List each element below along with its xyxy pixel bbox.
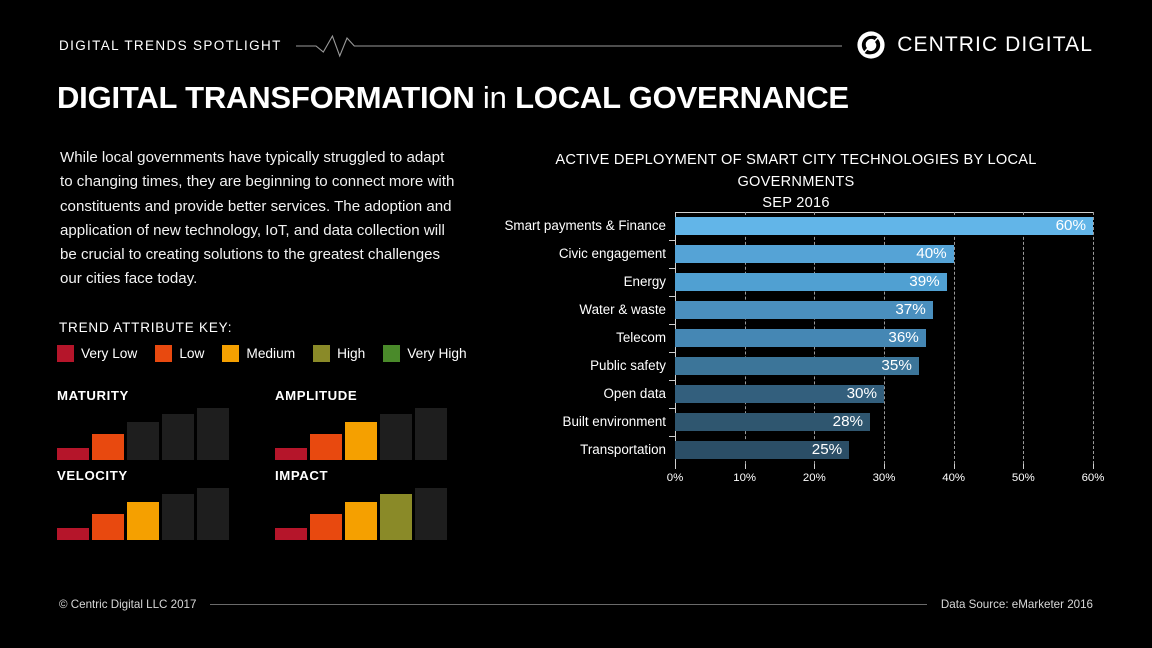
chart-bar: 36% — [675, 329, 926, 347]
chart-bar: 35% — [675, 357, 919, 375]
chart-bar-value: 35% — [881, 357, 918, 374]
chart-bar-row: Telecom36% — [675, 329, 1093, 347]
chart-bar-value: 25% — [812, 441, 849, 458]
chart-bar-row: Open data30% — [675, 385, 1093, 403]
chart-x-tick-mark — [884, 464, 885, 469]
trend-key-label: Very High — [407, 346, 466, 361]
trend-key-label: Medium — [246, 346, 295, 361]
chart-category-tick — [669, 380, 675, 381]
attribute-meter-bar — [197, 408, 229, 460]
attribute-meter-bar — [380, 494, 412, 540]
chart-bar: 40% — [675, 245, 954, 263]
chart-x-tick-mark — [1093, 464, 1094, 469]
attribute-meter-bars — [57, 408, 229, 460]
trend-key-item: High — [313, 345, 365, 362]
chart-bar-row: Energy39% — [675, 273, 1093, 291]
attribute-meter-bar — [162, 414, 194, 460]
attribute-meter-bars — [275, 488, 447, 540]
chart-x-tick-mark — [745, 464, 746, 469]
chart-bar: 28% — [675, 413, 870, 431]
chart-x-tick-label: 10% — [733, 472, 756, 484]
attribute-meter-label: IMPACT — [275, 468, 328, 483]
chart-title: ACTIVE DEPLOYMENT OF SMART CITY TECHNOLO… — [500, 150, 1092, 215]
trend-key-item: Very High — [383, 345, 466, 362]
chart-category-tick — [669, 408, 675, 409]
chart-bar: 37% — [675, 301, 933, 319]
chart-x-tick-label: 50% — [1012, 472, 1035, 484]
data-source-text: Data Source: eMarketer 2016 — [941, 598, 1093, 611]
trend-key-title: TREND ATTRIBUTE KEY: — [59, 320, 232, 335]
chart-bar-value: 60% — [1056, 217, 1093, 234]
brand-name: CENTRIC DIGITAL — [897, 33, 1093, 57]
attribute-meter: VELOCITY — [57, 468, 225, 540]
chart-bar-value: 28% — [833, 413, 870, 430]
chart-category-tick — [669, 436, 675, 437]
trend-key-swatch — [57, 345, 74, 362]
chart-category-label: Telecom — [616, 329, 666, 347]
attribute-meter-bar — [92, 514, 124, 540]
chart-category-tick — [669, 352, 675, 353]
attribute-meter-bar — [275, 528, 307, 540]
page-footer: © Centric Digital LLC 2017 Data Source: … — [59, 598, 1093, 611]
brand-lockup: CENTRIC DIGITAL — [856, 30, 1093, 60]
spotlight-kicker: DIGITAL TRENDS SPOTLIGHT — [59, 38, 282, 53]
attribute-meter-bars — [57, 488, 229, 540]
pulse-line-svg — [296, 32, 843, 58]
attribute-meter-bar — [127, 502, 159, 540]
page-header: DIGITAL TRENDS SPOTLIGHT CENTRIC DIGITAL — [59, 28, 1093, 62]
chart-bar-value: 30% — [847, 385, 884, 402]
trend-key-swatch — [155, 345, 172, 362]
attribute-meter-bar — [415, 408, 447, 460]
chart-plot-area: Smart payments & Finance60%Civic engagem… — [675, 212, 1093, 464]
chart-category-tick — [669, 324, 675, 325]
attribute-meter-bar — [127, 422, 159, 460]
trend-key-swatch — [383, 345, 400, 362]
page-title: DIGITAL TRANSFORMATION in LOCAL GOVERNAN… — [57, 80, 849, 116]
attribute-meter-bar — [310, 434, 342, 460]
chart-bar-row: Public safety35% — [675, 357, 1093, 375]
attribute-meter-bar — [275, 448, 307, 460]
chart-category-label: Water & waste — [579, 301, 666, 319]
chart-x-tick-label: 20% — [803, 472, 826, 484]
trend-key-item: Medium — [222, 345, 295, 362]
chart-x-tick-mark — [1023, 464, 1024, 469]
copyright-text: © Centric Digital LLC 2017 — [59, 598, 196, 611]
trend-key-swatch — [313, 345, 330, 362]
pulse-line-icon — [296, 32, 843, 58]
attribute-meter: MATURITY — [57, 388, 225, 460]
trend-key-legend: Very LowLowMediumHighVery High — [57, 345, 485, 362]
attribute-meter-bar — [345, 422, 377, 460]
chart-bar-row: Transportation25% — [675, 441, 1093, 459]
chart-category-label: Energy — [624, 273, 666, 291]
chart-bar: 60% — [675, 217, 1093, 235]
attribute-meter-bar — [57, 528, 89, 540]
attribute-meter-bar — [345, 502, 377, 540]
chart-title-main: ACTIVE DEPLOYMENT OF SMART CITY TECHNOLO… — [555, 152, 1036, 190]
chart-category-label: Open data — [603, 385, 666, 403]
footer-divider — [210, 604, 926, 605]
page-title-part2: LOCAL GOVERNANCE — [507, 80, 849, 115]
chart-bar-row: Civic engagement40% — [675, 245, 1093, 263]
chart-bar: 39% — [675, 273, 947, 291]
chart-bar-value: 37% — [895, 301, 932, 318]
trend-key-item: Low — [155, 345, 204, 362]
chart-category-tick — [669, 240, 675, 241]
chart-bar-value: 39% — [909, 273, 946, 290]
chart-x-tick-mark — [954, 464, 955, 469]
chart-category-label: Civic engagement — [559, 245, 666, 263]
chart-subtitle: SEP 2016 — [762, 195, 829, 211]
chart-x-tick-label: 60% — [1082, 472, 1105, 484]
chart-bar: 25% — [675, 441, 849, 459]
bar-chart: Smart payments & Finance60%Civic engagem… — [505, 212, 1093, 494]
chart-x-tick-label: 40% — [942, 472, 965, 484]
chart-rows: Smart payments & Finance60%Civic engagem… — [675, 212, 1093, 464]
chart-bar-value: 40% — [916, 245, 953, 262]
trend-key-label: Low — [179, 346, 204, 361]
attribute-meter-label: MATURITY — [57, 388, 129, 403]
trend-key-label: Very Low — [81, 346, 137, 361]
intro-paragraph: While local governments have typically s… — [60, 146, 456, 292]
attribute-meter-bar — [415, 488, 447, 540]
attribute-meter-bar — [57, 448, 89, 460]
attribute-meter-bar — [380, 414, 412, 460]
chart-bar-value: 36% — [888, 329, 925, 346]
attribute-meter: AMPLITUDE — [275, 388, 443, 460]
chart-x-tick-label: 30% — [873, 472, 896, 484]
attribute-meter: IMPACT — [275, 468, 443, 540]
chart-category-label: Public safety — [590, 357, 666, 375]
attribute-meter-bar — [162, 494, 194, 540]
chart-category-label: Built environment — [563, 413, 666, 431]
trend-key-item: Very Low — [57, 345, 137, 362]
page-title-connector: in — [483, 80, 507, 115]
chart-bar-row: Built environment28% — [675, 413, 1093, 431]
chart-category-label: Transportation — [580, 441, 666, 459]
chart-category-tick — [669, 268, 675, 269]
chart-category-label: Smart payments & Finance — [505, 217, 667, 235]
centric-digital-logo-icon — [856, 30, 886, 60]
attribute-meter-label: AMPLITUDE — [275, 388, 357, 403]
chart-gridline — [1093, 212, 1094, 464]
chart-bar: 30% — [675, 385, 884, 403]
attribute-meter-label: VELOCITY — [57, 468, 128, 483]
chart-x-axis: 0%10%20%30%40%50%60% — [675, 464, 1093, 494]
attribute-meter-bars — [275, 408, 447, 460]
chart-bar-row: Water & waste37% — [675, 301, 1093, 319]
chart-bar-row: Smart payments & Finance60% — [675, 217, 1093, 235]
chart-x-tick-mark — [675, 464, 676, 469]
attribute-meter-bar — [310, 514, 342, 540]
trend-key-label: High — [337, 346, 365, 361]
chart-x-tick-mark — [814, 464, 815, 469]
chart-x-tick-label: 0% — [667, 472, 683, 484]
trend-key-swatch — [222, 345, 239, 362]
attribute-meter-bar — [92, 434, 124, 460]
attribute-meter-bar — [197, 488, 229, 540]
page-title-part1: DIGITAL TRANSFORMATION — [57, 80, 483, 115]
chart-category-tick — [669, 296, 675, 297]
